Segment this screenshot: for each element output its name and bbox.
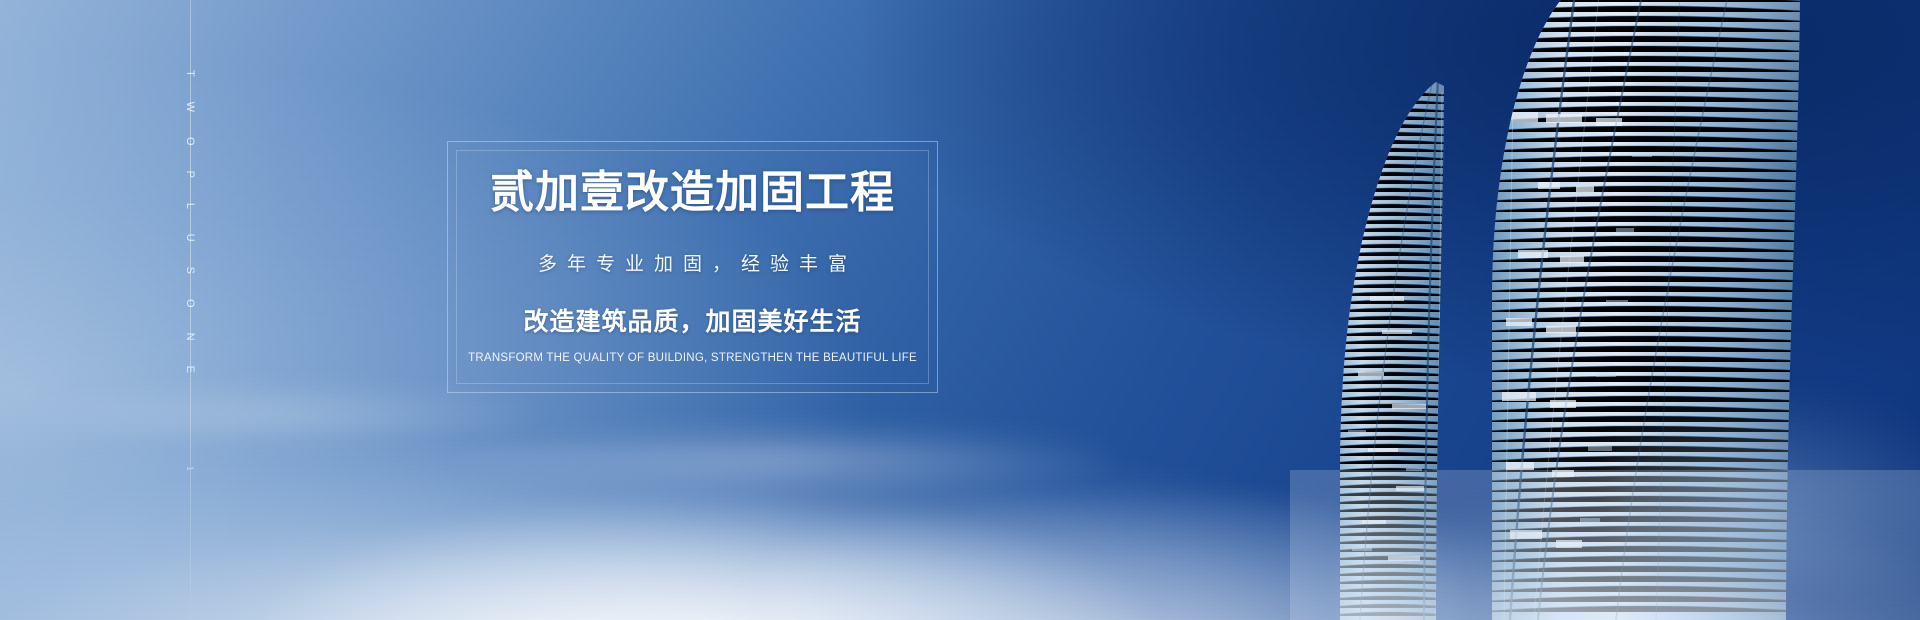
hero-title: 贰加壹改造加固工程 [490,171,895,215]
image-grain [0,0,1920,620]
hero-banner: T W O P L U S O N E 1 贰加壹改造加固工程 多年专业加固，经… [0,0,1920,620]
hero-text-panel: 贰加壹改造加固工程 多年专业加固，经验丰富 改造建筑品质，加固美好生活 TRAN… [447,141,938,393]
hero-panel-content: 贰加壹改造加固工程 多年专业加固，经验丰富 改造建筑品质，加固美好生活 TRAN… [448,142,937,392]
hero-english-tagline: TRANSFORM THE QUALITY OF BUILDING, STREN… [468,352,917,364]
hero-subtitle: 多年专业加固，经验丰富 [528,249,857,276]
vertical-brand-text: T W O P L U S O N E [184,70,196,384]
hero-tagline: 改造建筑品质，加固美好生活 [523,302,861,338]
vertical-slide-mark: 1 [185,466,195,474]
